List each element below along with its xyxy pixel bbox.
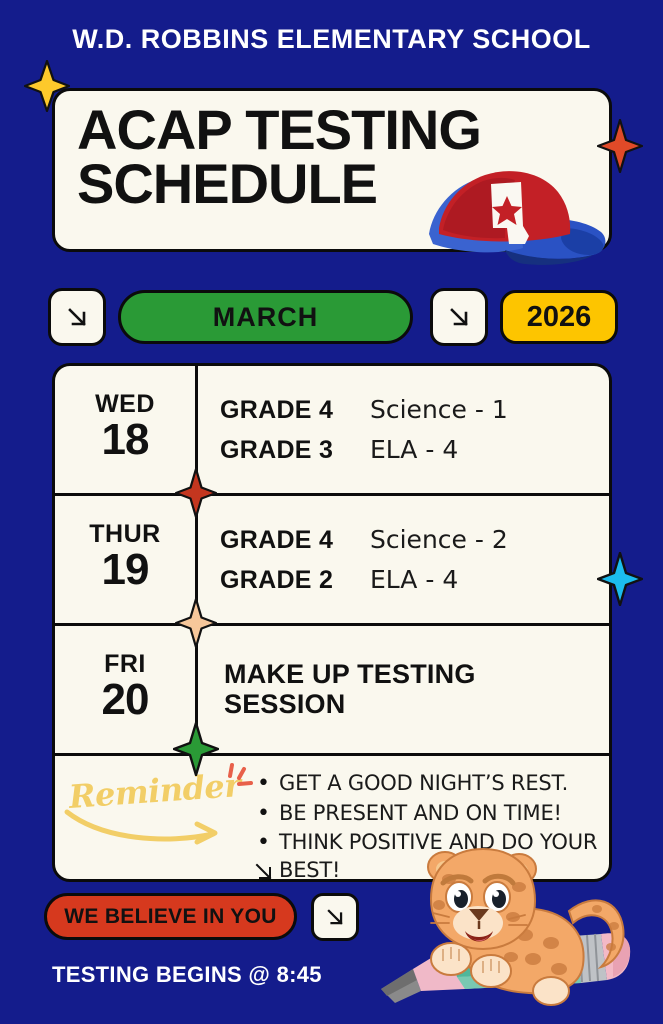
day-name: THUR	[89, 522, 160, 547]
schedule-entry: GRADE 4 Science - 1	[220, 395, 595, 425]
schedule-entry: GRADE 2 ELA - 4	[220, 565, 595, 595]
detail-cell: GRADE 4 Science - 2 GRADE 2 ELA - 4	[198, 496, 609, 623]
table-row: WED 18 GRADE 4 Science - 1 GRADE 3 ELA -…	[55, 366, 609, 496]
schedule-entry: GRADE 4 Science - 2	[220, 525, 595, 555]
list-item: GET A GOOD NIGHT’S REST.	[255, 770, 603, 798]
day-number: 20	[102, 677, 149, 723]
entry-subject: Science - 1	[370, 395, 508, 424]
day-name: FRI	[104, 652, 146, 677]
day-cell: FRI 20	[55, 626, 198, 753]
page-title: ACAP TESTING SCHEDULE	[77, 103, 527, 212]
entry-subject: ELA - 4	[370, 435, 458, 464]
year-pill[interactable]: 2026	[500, 290, 618, 344]
entry-subject: ELA - 4	[370, 565, 458, 594]
reminder-underline-arrow-icon	[63, 806, 233, 848]
arrow-down-right-icon	[444, 302, 474, 332]
detail-cell: MAKE UP TESTING SESSION	[198, 626, 609, 753]
arrow-down-right-icon	[251, 859, 277, 885]
list-item: BE PRESENT AND ON TIME!	[255, 800, 603, 828]
day-name: WED	[95, 392, 155, 417]
arrow-down-right-button-3[interactable]	[311, 893, 359, 941]
arrow-down-right-button-1[interactable]	[48, 288, 106, 346]
school-name: W.D. ROBBINS ELEMENTARY SCHOOL	[0, 24, 663, 55]
detail-cell: GRADE 4 Science - 1 GRADE 3 ELA - 4	[198, 366, 609, 493]
arrow-down-right-button-2[interactable]	[430, 288, 488, 346]
arrow-down-right-icon	[322, 904, 348, 930]
day-number: 19	[102, 547, 149, 593]
month-year-controls: MARCH 2026	[0, 288, 663, 350]
month-label: MARCH	[213, 302, 319, 333]
entry-grade: GRADE 3	[220, 436, 370, 465]
table-row: FRI 20 MAKE UP TESTING SESSION	[55, 626, 609, 756]
arrow-down-right-icon	[62, 302, 92, 332]
reminder-label-block: Reminder	[55, 756, 255, 816]
entry-subject: Science - 2	[370, 525, 508, 554]
year-label: 2026	[527, 301, 592, 334]
title-card: ACAP TESTING SCHEDULE	[52, 88, 612, 252]
day-number: 18	[102, 417, 149, 463]
entry-grade: GRADE 4	[220, 396, 370, 425]
acap-testing-schedule-poster: W.D. ROBBINS ELEMENTARY SCHOOL ACAP TEST…	[0, 0, 663, 1024]
table-row: THUR 19 GRADE 4 Science - 2 GRADE 2 ELA …	[55, 496, 609, 626]
day-cell: WED 18	[55, 366, 198, 493]
day-cell: THUR 19	[55, 496, 198, 623]
month-pill[interactable]: MARCH	[118, 290, 413, 344]
schedule-entry: GRADE 3 ELA - 4	[220, 435, 595, 465]
reminder-list: GET A GOOD NIGHT’S REST. BE PRESENT AND …	[255, 756, 609, 887]
testing-begins-label: TESTING BEGINS @ 8:45	[52, 962, 322, 988]
list-item: THINK POSITIVE AND DO YOUR BEST!	[255, 829, 603, 884]
makeup-session-label: MAKE UP TESTING SESSION	[220, 660, 595, 718]
we-believe-in-you-badge[interactable]: WE BELIEVE IN YOU	[44, 893, 297, 940]
badge-label: WE BELIEVE IN YOU	[64, 905, 276, 929]
reminder-spark-ticks-icon	[223, 762, 257, 798]
entry-grade: GRADE 2	[220, 566, 370, 595]
schedule-table: WED 18 GRADE 4 Science - 1 GRADE 3 ELA -…	[52, 363, 612, 882]
reminder-row: Reminder GET A GOOD NIGHT’S REST. BE P	[55, 756, 609, 878]
entry-grade: GRADE 4	[220, 526, 370, 555]
